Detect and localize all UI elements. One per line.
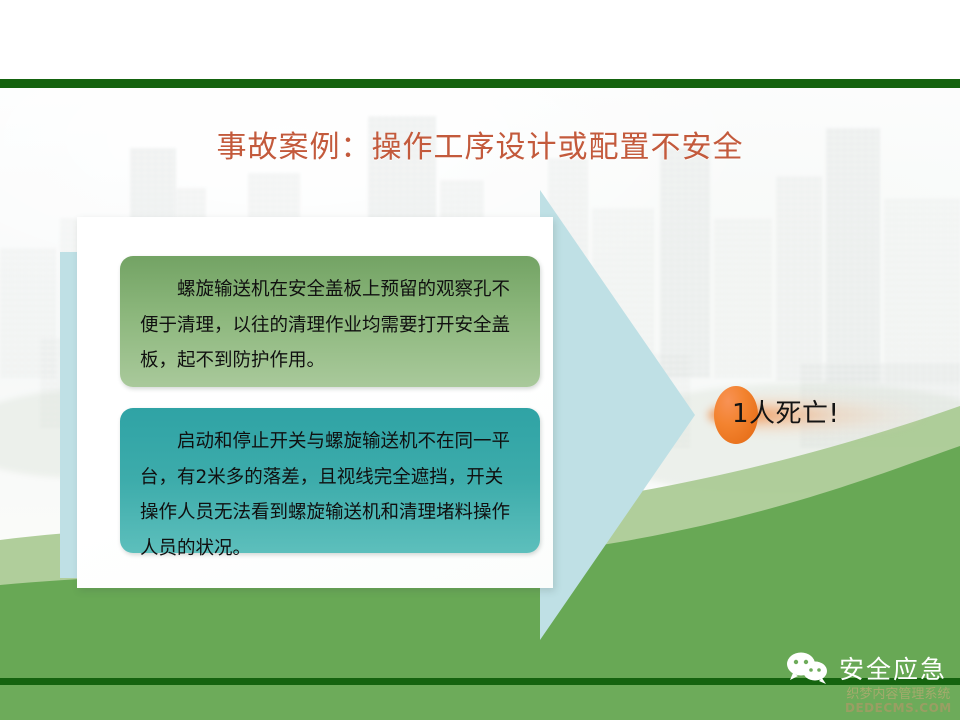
wechat-badge: 安全应急 (786, 650, 947, 686)
fatality-callout-label: 1人死亡! (732, 393, 839, 430)
hazard-box-switch-platform: 启动和停止开关与螺旋输送机不在同一平台，有2米多的落差，且视线完全遮挡，开关操作… (120, 408, 540, 553)
hazard-box-switch-platform-text: 启动和停止开关与螺旋输送机不在同一平台，有2米多的落差，且视线完全遮挡，开关操作… (140, 424, 518, 566)
hazard-box-inspection-hole-text: 螺旋输送机在安全盖板上预留的观察孔不便于清理，以往的清理作业均需要打开安全盖板，… (140, 272, 518, 379)
dedecms-watermark: 织梦内容管理系统 DEDECMS.COM (845, 688, 952, 714)
page-title: 事故案例：操作工序设计或配置不安全 (0, 122, 960, 166)
top-green-rule (0, 79, 960, 88)
watermark-cn: 织梦内容管理系统 (845, 688, 952, 702)
wechat-label: 安全应急 (839, 650, 947, 686)
fatality-callout: 1人死亡! (700, 382, 930, 448)
slide-canvas: 事故案例：操作工序设计或配置不安全 螺旋输送机在安全盖板上预留的观察孔不便于清理… (0, 0, 960, 720)
wechat-icon (786, 651, 830, 685)
watermark-en: DEDECMS.COM (845, 702, 952, 715)
top-white-band (0, 0, 960, 79)
hazard-box-inspection-hole: 螺旋输送机在安全盖板上预留的观察孔不便于清理，以往的清理作业均需要打开安全盖板，… (120, 256, 540, 387)
